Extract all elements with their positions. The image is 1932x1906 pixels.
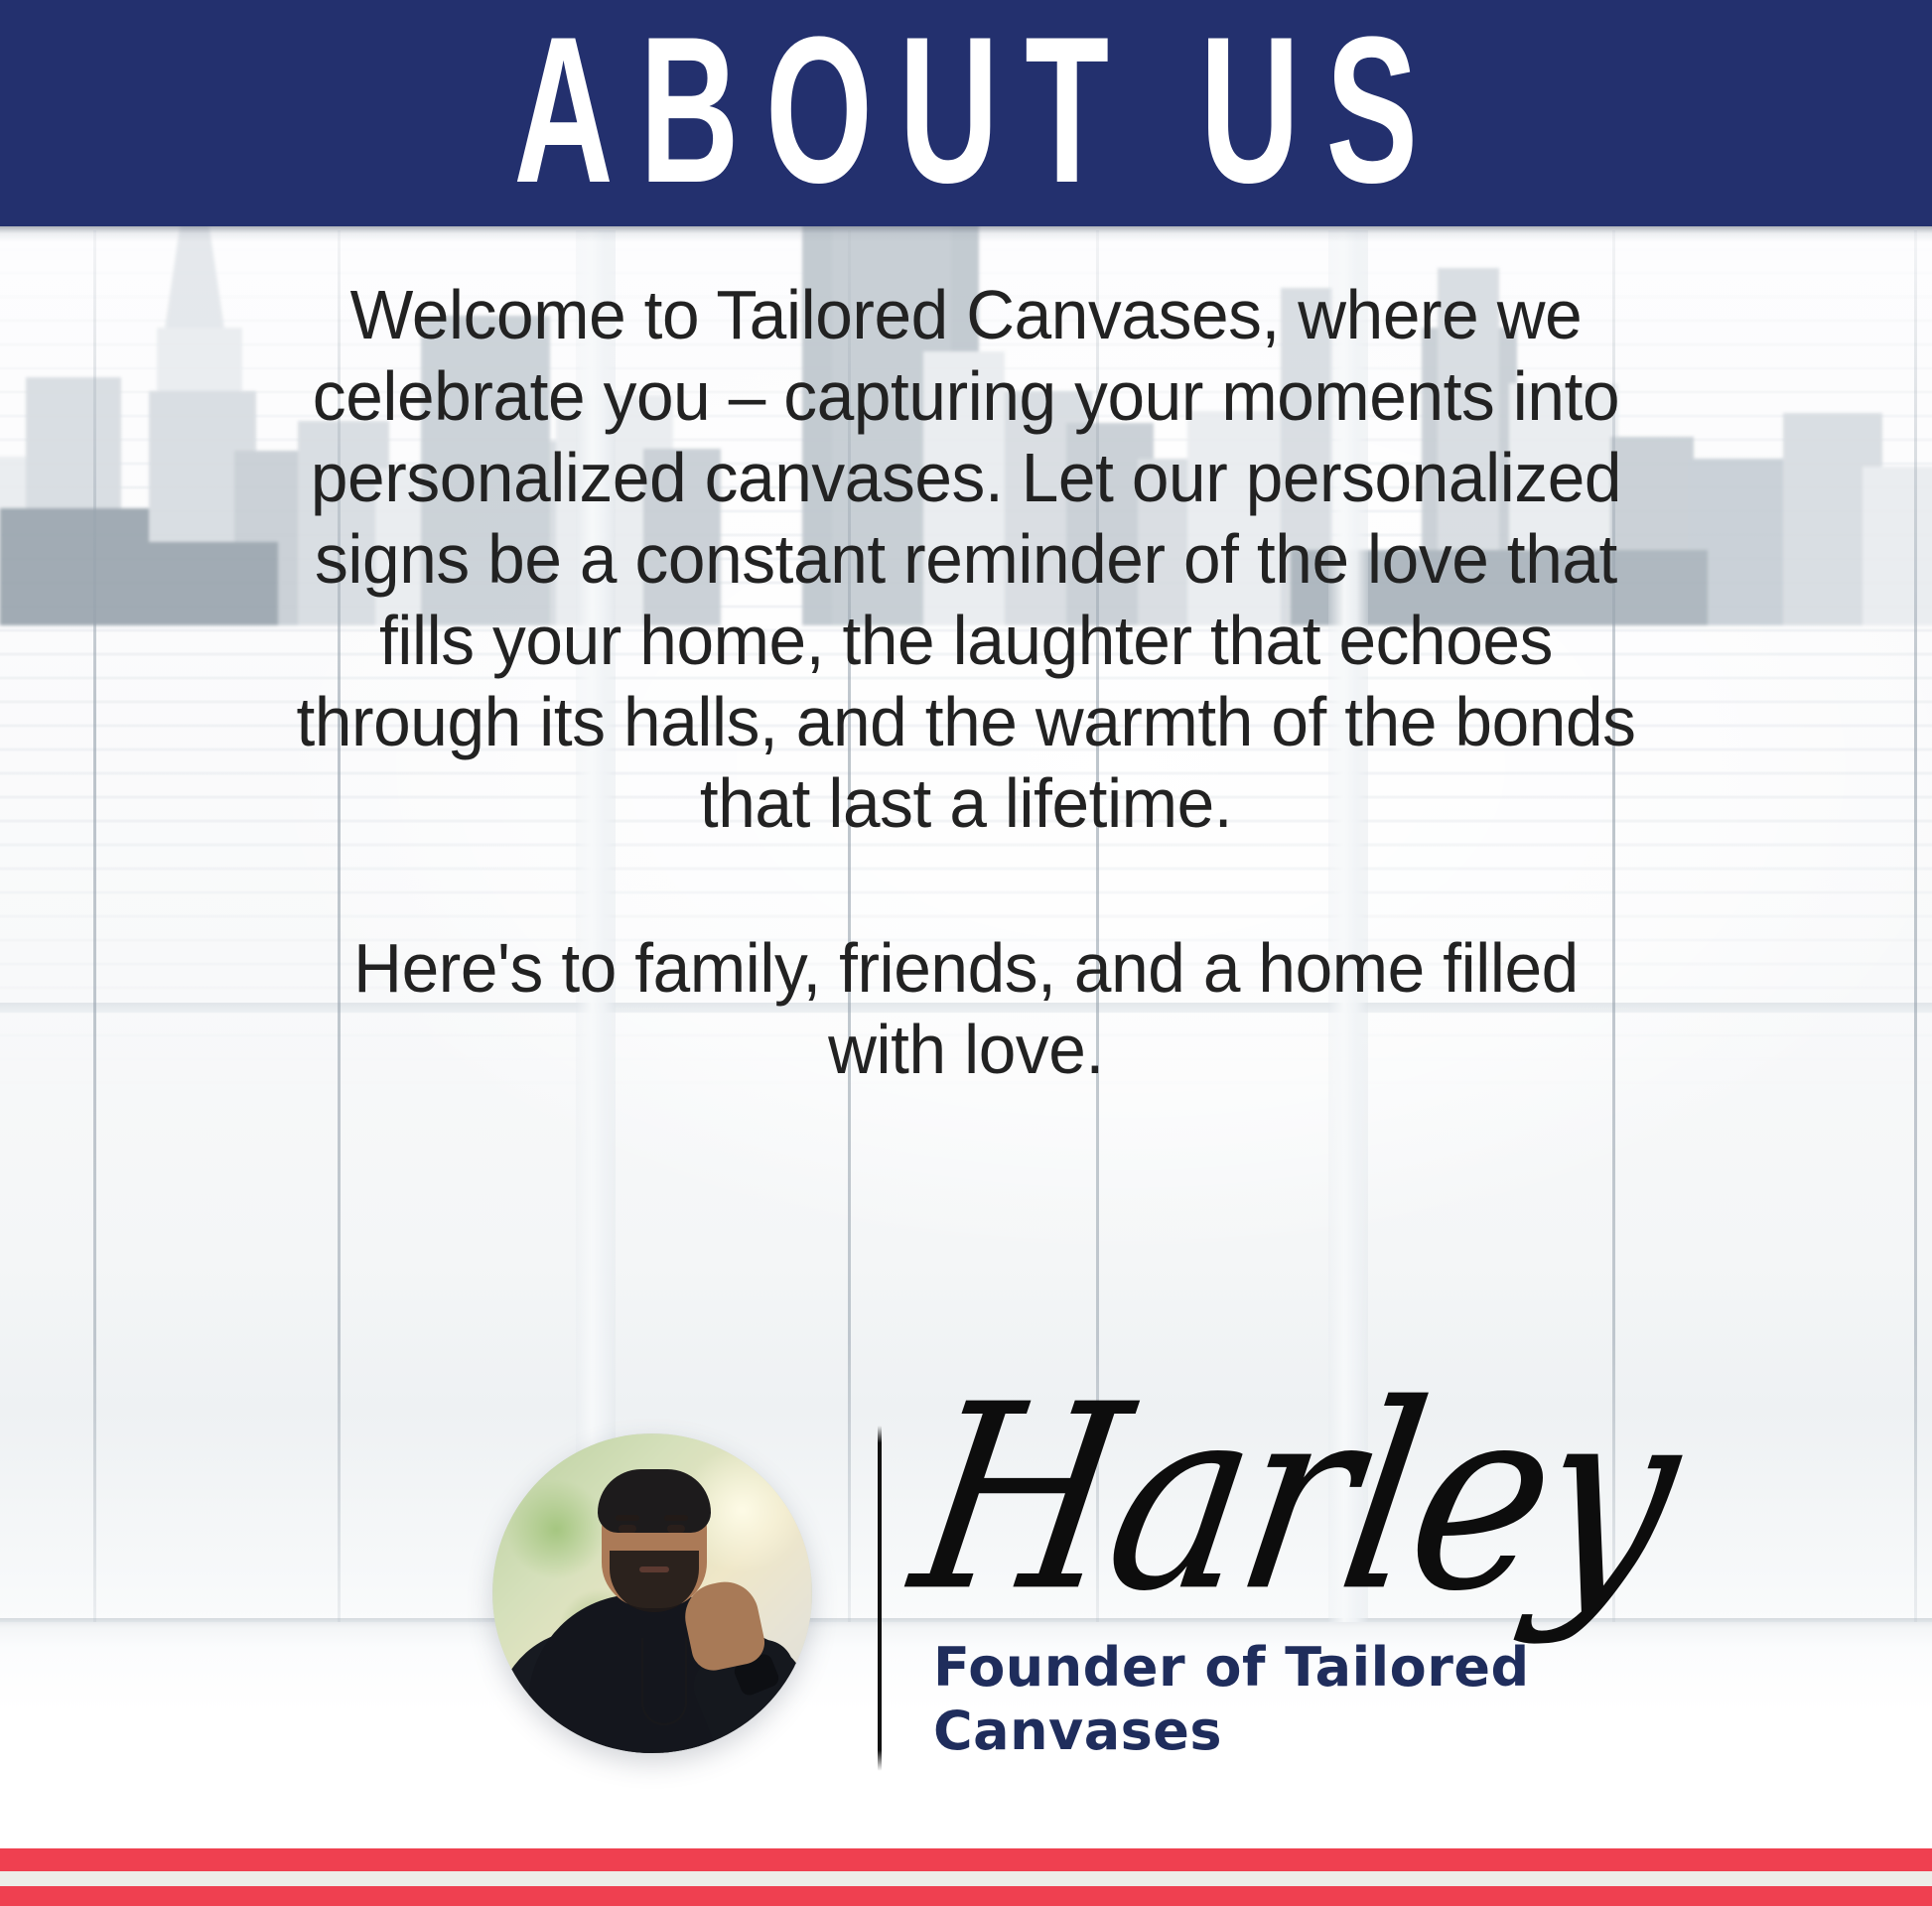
window-mullion [1914, 230, 1917, 1622]
footer-stripe-gap [0, 1871, 1932, 1886]
founder-block: Harley Founder of Tailored Canvases [0, 1420, 1932, 1837]
about-paragraph-1: Welcome to Tailored Canvases, where we c… [286, 274, 1646, 844]
founder-role-line-2: Canvases [933, 1700, 1569, 1763]
footer-stripe-top [0, 1848, 1932, 1871]
portrait-necklace [641, 1638, 687, 1725]
founder-role: Founder of Tailored Canvases [933, 1636, 1569, 1763]
founder-signature: Harley [901, 1372, 1688, 1628]
portrait-eyebrow-right [664, 1515, 688, 1521]
banner-drop-shadow [0, 226, 1932, 242]
about-us-banner: ABOUT US [0, 0, 1932, 226]
window-mullion [93, 230, 96, 1622]
portrait-hair [598, 1469, 711, 1533]
portrait-eye-left [619, 1525, 636, 1533]
about-paragraph-2: Here's to family, friends, and a home fi… [286, 927, 1646, 1090]
portrait-eyebrow-left [616, 1515, 639, 1521]
page-title: ABOUT US [487, 6, 1445, 214]
vertical-divider [878, 1426, 882, 1771]
about-us-copy: Welcome to Tailored Canvases, where we c… [261, 274, 1671, 1090]
portrait-mouth [639, 1566, 669, 1572]
founder-portrait-avatar [492, 1433, 812, 1753]
about-us-poster: ABOUT US Welcome to Tailored Canvases, w… [0, 0, 1932, 1906]
founder-role-line-1: Founder of Tailored [933, 1636, 1569, 1700]
footer-stripe-bottom [0, 1886, 1932, 1906]
portrait-eye-right [667, 1525, 685, 1533]
